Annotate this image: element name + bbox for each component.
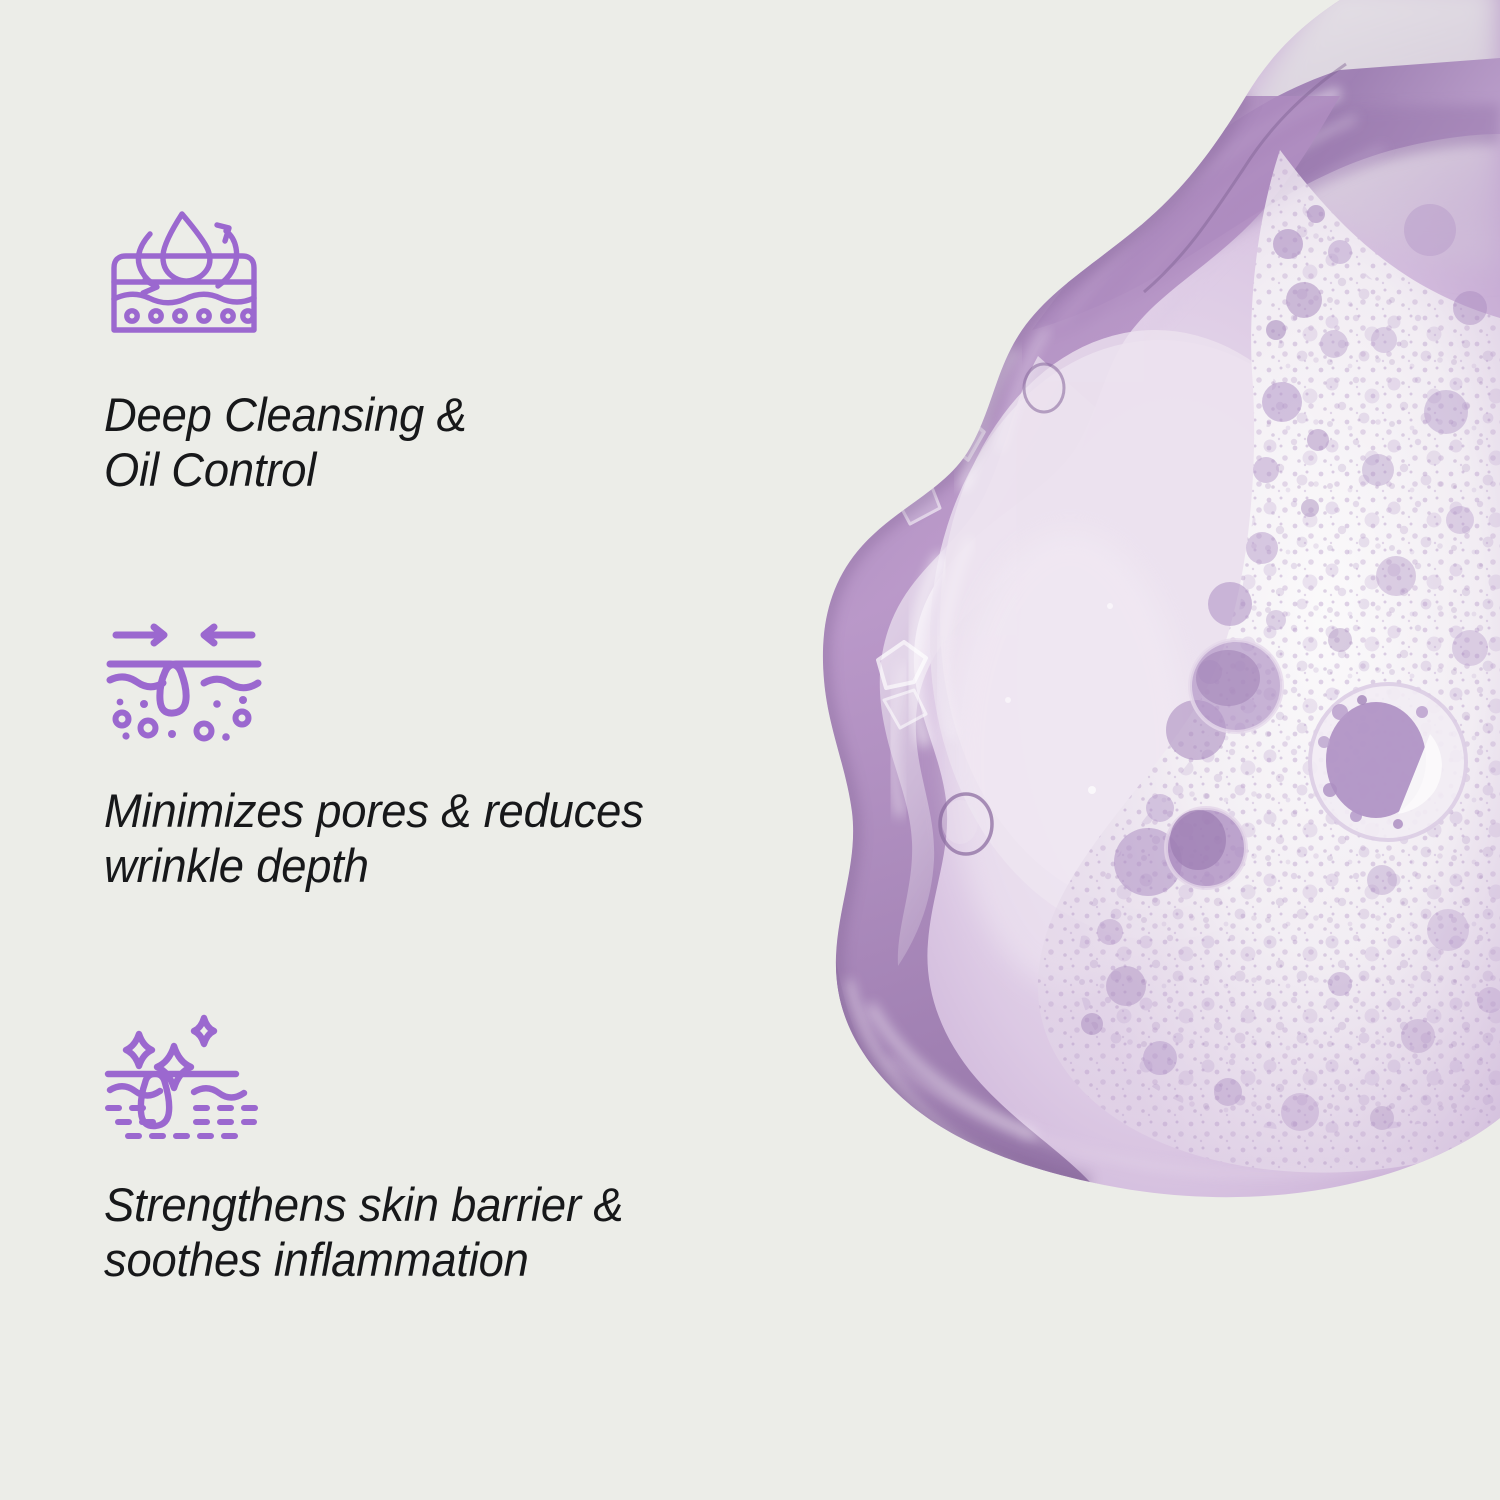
product-benefits-poster: Deep Cleansing & Oil Control <box>0 0 1500 1500</box>
skin-barrier-sparkle-icon <box>104 1012 264 1140</box>
benefit-item-strengthens-barrier: Strengthens skin barrier & soothes infla… <box>104 1012 724 1287</box>
lavender-gel-foam-swatch <box>640 0 1500 1500</box>
hero-bubble <box>1310 684 1466 840</box>
gel-blob <box>640 0 1500 1500</box>
pore-minimizing-skin-icon <box>104 618 264 746</box>
benefit-item-deep-cleansing: Deep Cleansing & Oil Control <box>104 212 724 497</box>
hydration-droplet-skin-layers-icon <box>104 212 264 340</box>
benefit-label: Strengthens skin barrier & soothes infla… <box>104 1178 702 1287</box>
product-texture-image <box>640 0 1500 1500</box>
benefit-label: Deep Cleansing & Oil Control <box>104 388 702 497</box>
benefit-item-minimizes-pores: Minimizes pores & reduces wrinkle depth <box>104 618 724 893</box>
benefits-list: Deep Cleansing & Oil Control <box>0 0 720 1500</box>
benefit-label: Minimizes pores & reduces wrinkle depth <box>104 784 702 893</box>
